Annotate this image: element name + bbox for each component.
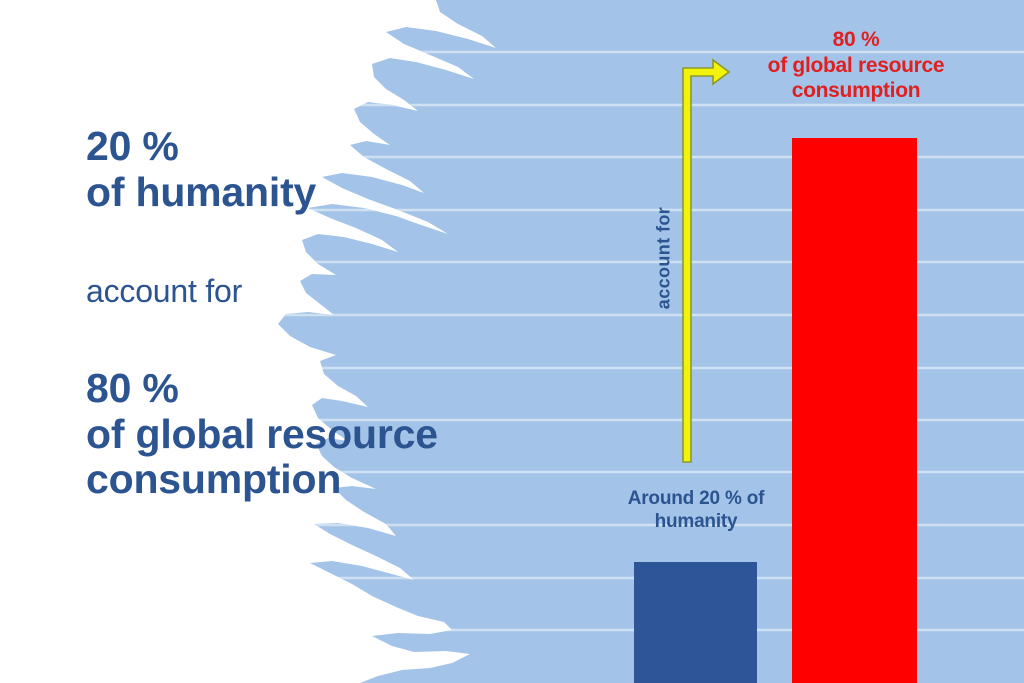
copy-spacer-1 <box>86 216 506 274</box>
headline-line-consumption: consumption <box>86 457 506 503</box>
red-bar-annotation-line3: consumption <box>745 78 967 104</box>
headline-copy: 20 % of humanity account for 80 % of glo… <box>86 124 506 503</box>
headline-line-of-humanity: of humanity <box>86 170 506 216</box>
infographic-canvas: account for 80 % of global resource cons… <box>0 0 1024 683</box>
bar-blue-humanity <box>634 562 757 683</box>
red-bar-annotation: 80 % of global resource consumption <box>745 27 967 104</box>
headline-line-account-for: account for <box>86 274 506 310</box>
red-bar-annotation-line1: 80 % <box>745 27 967 53</box>
headline-line-80-percent: 80 % <box>86 366 506 412</box>
headline-line-global-resource: of global resource <box>86 412 506 458</box>
headline-line-20-percent: 20 % <box>86 124 506 170</box>
bar-red-resource-consumption <box>792 138 917 683</box>
red-bar-annotation-line2: of global resource <box>745 53 967 79</box>
copy-spacer-2 <box>86 310 506 366</box>
arrow-annotation-account-for: account for <box>654 207 675 309</box>
blue-bar-annotation-line2: humanity <box>600 510 792 533</box>
blue-bar-annotation: Around 20 % of humanity <box>600 487 792 533</box>
blue-bar-annotation-line1: Around 20 % of <box>600 487 792 510</box>
